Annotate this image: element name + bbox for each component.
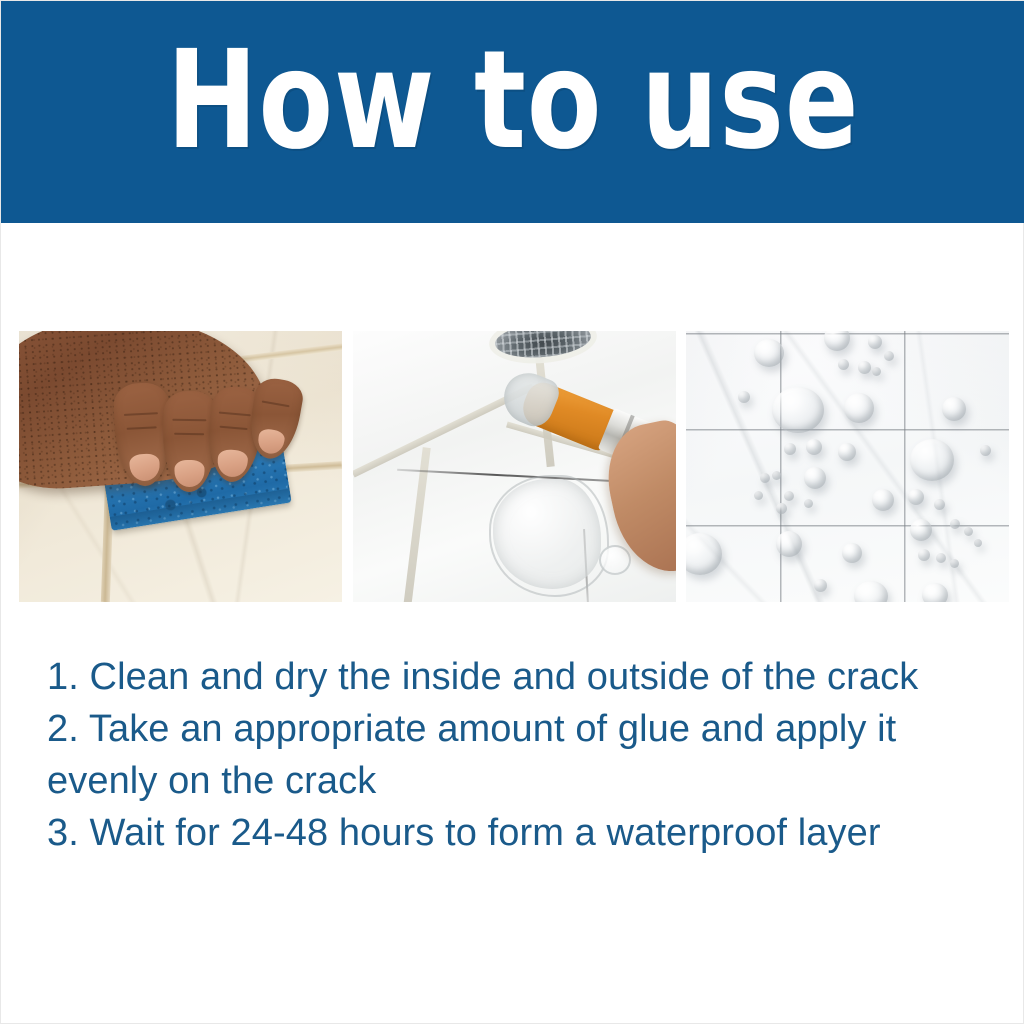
photo-waterproof-result	[686, 331, 1009, 602]
knuckle-crease	[124, 412, 158, 416]
water-droplet	[784, 491, 794, 501]
knuckle-crease	[220, 426, 248, 430]
water-droplet	[910, 519, 932, 541]
fingernail	[174, 460, 204, 488]
knuckle-crease	[262, 400, 290, 407]
fingernail	[129, 453, 160, 482]
water-droplet	[776, 503, 787, 514]
water-droplet	[842, 543, 862, 563]
glue-bubble	[599, 545, 631, 575]
water-droplet	[964, 527, 973, 536]
water-droplet	[872, 367, 881, 376]
water-droplet	[910, 439, 954, 481]
water-droplet	[738, 391, 750, 403]
water-droplet	[754, 491, 763, 500]
water-droplet	[772, 387, 824, 433]
water-droplet	[804, 467, 826, 489]
water-droplet	[784, 443, 796, 455]
knuckle-crease	[127, 426, 157, 430]
instructions-list: 1. Clean and dry the inside and outside …	[47, 651, 1013, 859]
water-droplet	[754, 339, 784, 367]
water-droplet	[908, 489, 924, 505]
water-droplet	[934, 499, 945, 510]
water-droplet	[872, 489, 894, 511]
water-droplet	[974, 539, 982, 547]
knuckle-crease	[174, 433, 204, 436]
water-droplet	[838, 359, 849, 370]
photo-apply-glue	[353, 331, 676, 602]
water-droplet	[936, 553, 946, 563]
water-droplet	[844, 393, 874, 423]
page-title: How to use	[103, 31, 922, 171]
water-droplet	[950, 519, 960, 529]
water-droplet	[814, 579, 827, 592]
water-droplet	[980, 445, 991, 456]
water-droplet	[868, 335, 882, 349]
water-droplet	[950, 559, 959, 568]
photo-clean-crack	[19, 331, 342, 602]
fingernail	[256, 428, 286, 456]
photo-strip	[19, 331, 1009, 602]
instruction-step-2: 2. Take an appropriate amount of glue an…	[47, 703, 1013, 807]
water-droplet	[918, 549, 930, 561]
water-droplet	[884, 351, 894, 361]
instruction-step-1: 1. Clean and dry the inside and outside …	[47, 651, 1013, 703]
water-droplet	[838, 443, 856, 461]
water-droplet	[776, 531, 802, 557]
knuckle-crease	[219, 412, 251, 417]
water-droplet	[858, 361, 871, 374]
water-droplet	[772, 471, 781, 480]
water-droplet	[760, 473, 770, 483]
water-droplet	[942, 397, 966, 421]
header-banner: How to use	[1, 1, 1024, 223]
fingernail	[216, 449, 248, 479]
water-droplet	[804, 499, 813, 508]
water-droplet	[922, 583, 948, 602]
water-droplet	[806, 439, 822, 455]
instruction-step-3: 3. Wait for 24-48 hours to form a waterp…	[47, 807, 1013, 859]
product-instruction-graphic: How to use	[0, 0, 1024, 1024]
knuckle-crease	[172, 419, 206, 422]
